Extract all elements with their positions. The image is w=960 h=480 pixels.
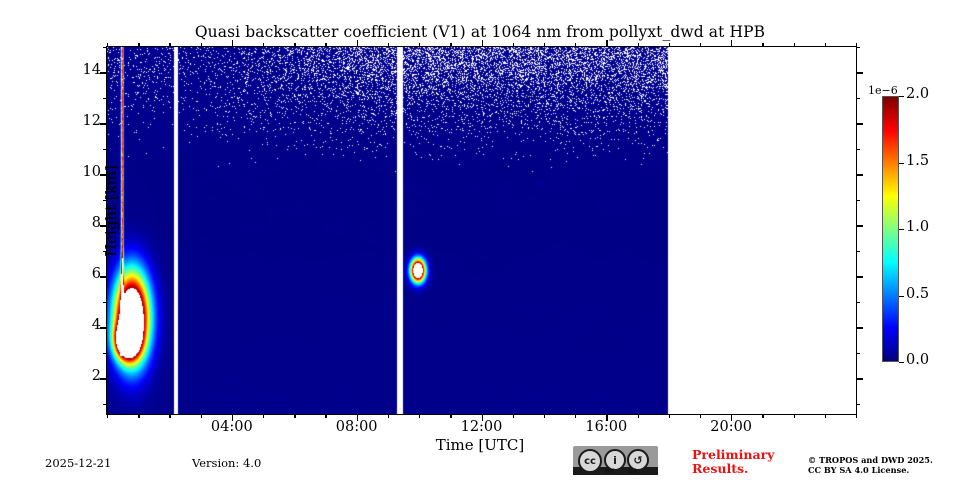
- preliminary-results-notice: Preliminary Results.: [692, 448, 774, 475]
- x-tick: [575, 43, 576, 47]
- x-tick: [388, 43, 389, 47]
- x-tick: [513, 43, 514, 47]
- y-tick: [856, 251, 860, 252]
- x-tick: [544, 43, 545, 47]
- x-tick-label: 08:00: [317, 419, 397, 435]
- cc-sa-label: SA: [628, 467, 638, 475]
- copyright-line-2: CC BY SA 4.0 License.: [808, 465, 933, 475]
- y-tick: [100, 327, 107, 328]
- x-tick: [482, 40, 483, 47]
- copyright-notice: © TROPOS and DWD 2025. CC BY SA 4.0 Lice…: [808, 455, 933, 475]
- x-axis-title: Time [UTC]: [0, 436, 960, 454]
- y-tick: [856, 353, 860, 354]
- x-tick: [825, 414, 826, 418]
- y-tick: [856, 72, 863, 73]
- x-tick: [794, 414, 795, 418]
- y-tick-label: 2: [41, 368, 101, 384]
- colorbar-tick-label: 0.5: [906, 286, 929, 302]
- colorbar-tick: [899, 163, 904, 164]
- page-title: Quasi backscatter coefficient (V1) at 10…: [0, 23, 960, 41]
- x-tick: [294, 43, 295, 47]
- colorbar-tick: [899, 96, 904, 97]
- y-tick: [103, 98, 107, 99]
- x-tick: [450, 43, 451, 47]
- colorbar-gradient: [882, 96, 899, 362]
- y-tick: [100, 378, 107, 379]
- x-tick-label: 20:00: [691, 419, 771, 435]
- colorbar-tick: [899, 362, 904, 363]
- y-tick-label: 14: [41, 62, 101, 78]
- x-tick: [138, 414, 139, 418]
- y-tick: [856, 404, 860, 405]
- x-tick: [107, 43, 108, 47]
- y-tick: [856, 174, 863, 175]
- preliminary-line-2: Results.: [692, 462, 774, 476]
- x-tick: [762, 414, 763, 418]
- y-tick: [103, 302, 107, 303]
- x-tick: [419, 414, 420, 418]
- y-tick-label: 8: [41, 215, 101, 231]
- x-tick: [107, 414, 108, 418]
- y-tick-label: 4: [41, 317, 101, 333]
- preliminary-line-1: Preliminary: [692, 448, 774, 462]
- x-tick: [263, 414, 264, 418]
- y-tick: [856, 123, 863, 124]
- x-tick: [638, 414, 639, 418]
- y-tick-label: 12: [41, 113, 101, 129]
- y-tick-label: 10: [41, 164, 101, 180]
- creative-commons-badge[interactable]: cc i ↺ BY SA: [573, 446, 658, 475]
- x-tick-label: 04:00: [192, 419, 272, 435]
- x-tick: [731, 40, 732, 47]
- y-tick: [103, 404, 107, 405]
- y-tick: [856, 225, 863, 226]
- y-tick: [856, 98, 860, 99]
- heatmap-canvas: [107, 47, 856, 414]
- y-tick: [856, 149, 860, 150]
- y-tick: [100, 123, 107, 124]
- x-tick: [700, 414, 701, 418]
- x-tick: [762, 43, 763, 47]
- x-tick: [325, 43, 326, 47]
- colorbar-tick-label: 2.0: [906, 86, 929, 102]
- x-tick: [575, 414, 576, 418]
- x-tick: [419, 43, 420, 47]
- colorbar-tick-label: 1.0: [906, 219, 929, 235]
- y-tick: [856, 378, 863, 379]
- y-tick: [100, 72, 107, 73]
- x-tick-label: 12:00: [442, 419, 522, 435]
- x-tick: [201, 43, 202, 47]
- x-tick: [232, 40, 233, 47]
- x-tick: [388, 414, 389, 418]
- x-tick: [669, 414, 670, 418]
- cc-by-label: BY: [605, 467, 614, 475]
- x-tick: [325, 414, 326, 418]
- x-tick: [169, 43, 170, 47]
- y-axis-title: Height [km]: [102, 131, 120, 291]
- x-tick-label: 16:00: [566, 419, 646, 435]
- x-tick: [450, 414, 451, 418]
- x-tick: [357, 40, 358, 47]
- y-tick: [856, 327, 863, 328]
- x-tick: [138, 43, 139, 47]
- footer-version: Version: 4.0: [192, 456, 261, 470]
- footer-date: 2025-12-21: [45, 456, 111, 470]
- colorbar-tick: [899, 229, 904, 230]
- colorbar-tick-label: 0.0: [906, 352, 929, 368]
- lidar-quicklook-figure: Quasi backscatter coefficient (V1) at 10…: [0, 0, 960, 480]
- y-tick: [856, 276, 863, 277]
- x-tick: [856, 414, 857, 418]
- x-tick: [294, 414, 295, 418]
- x-tick: [669, 43, 670, 47]
- x-tick: [700, 43, 701, 47]
- x-tick: [606, 40, 607, 47]
- plot-area[interactable]: 04:0008:0012:0016:0020:00 2468101214 Hei…: [106, 46, 857, 415]
- y-tick: [103, 353, 107, 354]
- colorbar-tick: [899, 296, 904, 297]
- y-tick-label: 6: [41, 266, 101, 282]
- y-tick: [103, 47, 107, 48]
- x-tick: [825, 43, 826, 47]
- cc-icon: cc: [578, 449, 602, 473]
- x-tick: [794, 43, 795, 47]
- x-tick: [201, 414, 202, 418]
- x-tick: [263, 43, 264, 47]
- colorbar-tick-label: 1.5: [906, 153, 929, 169]
- y-tick: [856, 200, 860, 201]
- x-tick: [513, 414, 514, 418]
- y-tick: [856, 302, 860, 303]
- x-tick: [544, 414, 545, 418]
- colorbar[interactable]: 0.00.51.01.52.0: [882, 96, 899, 362]
- copyright-line-1: © TROPOS and DWD 2025.: [808, 455, 933, 465]
- x-tick: [169, 414, 170, 418]
- x-tick: [638, 43, 639, 47]
- y-tick: [856, 47, 860, 48]
